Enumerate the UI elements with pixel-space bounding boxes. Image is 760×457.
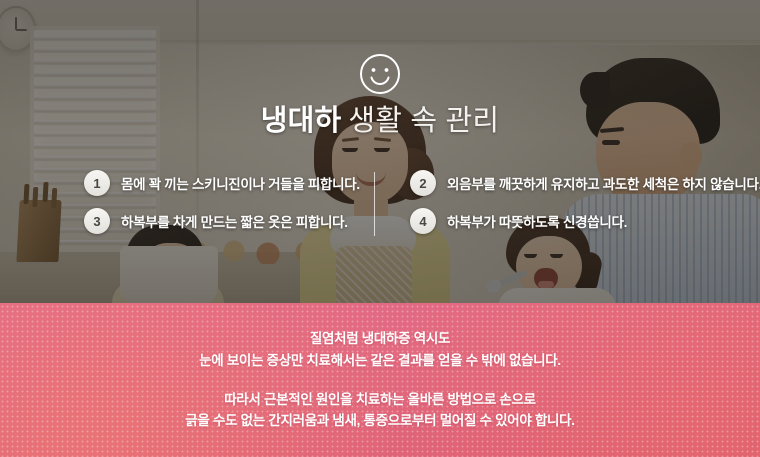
tip-number-badge: 3 bbox=[84, 208, 110, 234]
tip-text: 몸에 꽉 끼는 스키니진이나 거들을 피합니다. bbox=[121, 173, 360, 193]
summary-paragraph-2: 따라서 근본적인 원인을 치료하는 올바른 방법으로 손으로 긁을 수도 없는 … bbox=[185, 389, 574, 433]
photo-dark-overlay bbox=[0, 0, 760, 303]
smiley-face-icon bbox=[358, 52, 402, 96]
summary-line: 눈에 보이는 증상만 치료해서는 같은 결과를 얻을 수 밖에 없습니다. bbox=[199, 350, 561, 372]
summary-paragraph-1: 질염처럼 냉대하증 역시도 눈에 보이는 증상만 치료해서는 같은 결과를 얻을… bbox=[199, 328, 561, 372]
infographic-banner: 냉대하생활 속 관리 1 몸에 꽉 끼는 스키니진이나 거들을 피합니다. 2 … bbox=[0, 0, 760, 457]
summary-line: 질염처럼 냉대하증 역시도 bbox=[199, 328, 561, 350]
title-subtext: 생활 속 관리 bbox=[348, 105, 499, 137]
list-item: 3 하복부를 차게 만드는 짧은 옷은 피합니다. bbox=[84, 208, 348, 234]
tip-text: 하복부를 차게 만드는 짧은 옷은 피합니다. bbox=[121, 211, 348, 231]
list-item: 1 몸에 꽉 끼는 스키니진이나 거들을 피합니다. bbox=[84, 170, 360, 196]
tips-list: 1 몸에 꽉 끼는 스키니진이나 거들을 피합니다. 2 외음부를 깨끗하게 유… bbox=[0, 168, 760, 238]
title-keyword: 냉대하 bbox=[261, 105, 342, 137]
tip-text: 외음부를 깨끗하게 유지하고 과도한 세척은 하지 않습니다. bbox=[447, 173, 760, 193]
tip-number-badge: 2 bbox=[410, 170, 436, 196]
family-kitchen-photo bbox=[0, 0, 760, 303]
list-item: 4 하복부가 따뜻하도록 신경씁니다. bbox=[410, 208, 627, 234]
tip-text: 하복부가 따뜻하도록 신경씁니다. bbox=[447, 211, 627, 231]
summary-section: 질염처럼 냉대하증 역시도 눈에 보이는 증상만 치료해서는 같은 결과를 얻을… bbox=[0, 303, 760, 457]
header: 냉대하생활 속 관리 bbox=[0, 52, 760, 138]
tip-number-badge: 1 bbox=[84, 170, 110, 196]
list-item: 2 외음부를 깨끗하게 유지하고 과도한 세척은 하지 않습니다. bbox=[410, 170, 760, 196]
tip-number-badge: 4 bbox=[410, 208, 436, 234]
summary-line: 긁을 수도 없는 간지러움과 냄새, 통증으로부터 멀어질 수 있어야 합니다. bbox=[185, 410, 574, 432]
summary-line: 따라서 근본적인 원인을 치료하는 올바른 방법으로 손으로 bbox=[185, 389, 574, 411]
summary-content: 질염처럼 냉대하증 역시도 눈에 보이는 증상만 치료해서는 같은 결과를 얻을… bbox=[0, 303, 760, 457]
page-title: 냉대하생활 속 관리 bbox=[0, 106, 760, 138]
